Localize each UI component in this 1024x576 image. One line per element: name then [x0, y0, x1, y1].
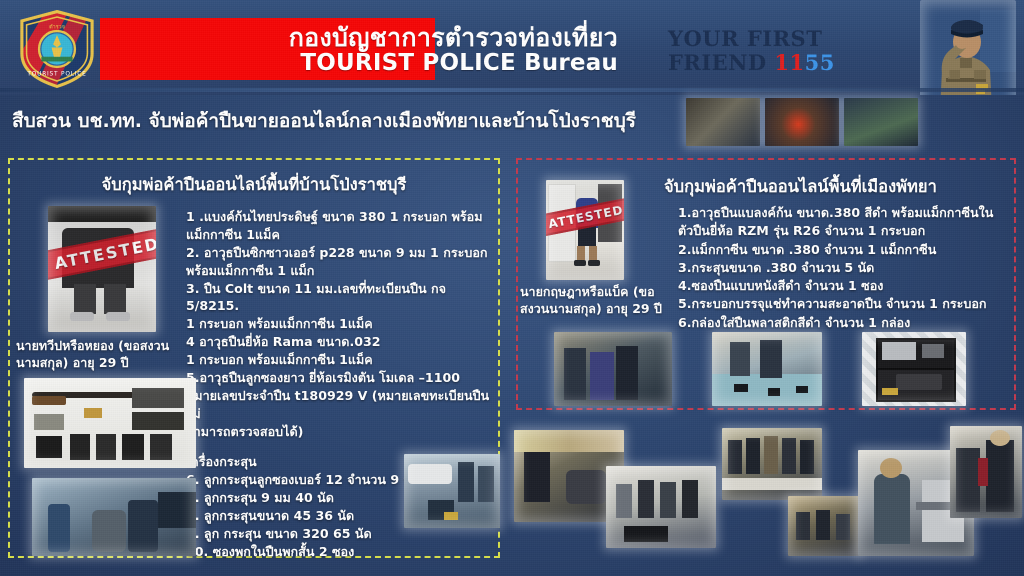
tourist-police-badge-icon: ตำรวจ TOURIST POLICE [8, 8, 108, 90]
right-photo-row [554, 332, 1006, 406]
badge-text-en: TOURIST POLICE [26, 72, 86, 78]
left-suspect-caption: นายทวีปหรือหยอง (ขอสงวนนามสกุล) อายุ 29 … [16, 338, 188, 372]
right-suspect-photo: ATTESTED [546, 180, 624, 280]
list-spacer [186, 440, 498, 451]
poster-root: ตำรวจ TOURIST POLICE กองบัญชาการตำรวจท่อ… [0, 0, 1024, 576]
right-item: ตัวปืนยี่ห้อ RZM รุ่น R26 จำนวน 1 กระบอก [678, 222, 1010, 240]
left-suspect-photo: ATTESTED [48, 206, 156, 332]
slogan-line-1: YOUR FIRST [668, 27, 838, 51]
left-item: หมายเลขประจำปืน t180929 V (หมายเลขทะเบีย… [186, 387, 498, 423]
left-item: สามารถตรวจสอบได้) [186, 423, 498, 441]
bottom-photo-collage [510, 424, 1024, 576]
left-item: พร้อมแม็กกาซีน 1 แม็ก [186, 262, 498, 280]
top-photo-strip [686, 98, 918, 146]
right-item: 5.กระบอกบรรจุแช่ทำความสะอาดปืน จำนวน 1 ก… [678, 295, 1010, 313]
officer-portrait-photo [920, 0, 1016, 95]
hotline-digits-blue: 55 [805, 50, 835, 75]
left-item: 4 อาวุธปืนยี่ห้อ Rama ขนาด.032 [186, 333, 498, 351]
badge-text-th: ตำรวจ [49, 24, 65, 31]
header-title-group: กองบัญชาการตำรวจท่องเที่ยว TOURIST POLIC… [100, 16, 640, 84]
evidence-table-photo [712, 332, 822, 406]
hotline-digits-red: 11 [774, 50, 804, 75]
arrest-site-photo [32, 478, 196, 556]
header-divider [0, 88, 1024, 92]
hotline-slogan: YOUR FIRST FRIEND 1155 [668, 27, 838, 74]
police-vehicle-photo [404, 454, 500, 528]
left-item: 1 กระบอก พร้อมแม็กกาซีน 1แม็ค [186, 351, 498, 369]
left-item: 5.อาวุธปืนลูกซองยาว ยี่ห้อเรมิงตัน โมเดล… [186, 369, 498, 387]
right-evidence-list: 1.อาวุธปืนแบลงค์ก้น ขนาด.380 สีดำ พร้อมแ… [678, 204, 1010, 332]
slogan-line-2: FRIEND 1155 [668, 51, 838, 75]
header-title-thai: กองบัญชาการตำรวจท่องเที่ยว [289, 24, 618, 51]
left-case-panel: จับกุมพ่อค้าปืนออนไลน์พื้นที่บ้านโป่งราช… [8, 158, 500, 558]
officers-group-photo [788, 496, 860, 556]
slogan-friend-text: FRIEND [668, 50, 767, 75]
left-item: 2. อาวุธปืนซิกซาวเออร์ p228 ขนาด 9 มม 1 … [186, 244, 498, 262]
header-bar: ตำรวจ TOURIST POLICE กองบัญชาการตำรวจท่อ… [0, 0, 1024, 95]
evidence-laydown-photo [606, 466, 716, 548]
seized-weapons-photo [24, 378, 196, 468]
left-item: 3. ปืน Colt ขนาด 11 มม.เลขที่ทะเบียนปืน … [186, 280, 498, 316]
top-photo-3 [844, 98, 918, 146]
left-item: 1 กระบอก พร้อมแม็กกาซีน 1แม็ค [186, 315, 498, 333]
page-subtitle: สืบสวน บช.ทท. จับพ่อค้าปืนขายออนไลน์กลาง… [12, 104, 692, 138]
left-item: แม็กกาซีน 1แม็ค [186, 226, 498, 244]
header-title-english: TOURIST POLICE Bureau [300, 51, 618, 77]
left-ammo-item: 10. ซองพกในปืนพกสั้น 2 ซอง [186, 543, 498, 561]
right-panel-heading: จับกุมพ่อค้าปืนออนไลน์พื้นที่เมืองพัทยา [664, 174, 1012, 200]
street-arrest-photo [554, 332, 672, 406]
press-conference-photo [722, 428, 822, 500]
top-photo-1 [686, 98, 760, 146]
left-item: 1 .แบงค์ก้นไทยประดิษฐ์ ขนาด 380 1 กระบอก… [186, 208, 498, 226]
suspect-interview-photo [950, 426, 1022, 518]
right-item: 3.กระสุนขนาด .380 จำนวน 5 นัด [678, 259, 1010, 277]
left-panel-heading: จับกุมพ่อค้าปืนออนไลน์พื้นที่บ้านโป่งราช… [10, 172, 498, 198]
right-case-panel: จับกุมพ่อค้าปืนออนไลน์พื้นที่เมืองพัทยา … [516, 158, 1016, 410]
right-item: 4.ซองปืนแบบหนังสีดำ จำนวน 1 ซอง [678, 277, 1010, 295]
right-item: 1.อาวุธปืนแบลงค์ก้น ขนาด.380 สีดำ พร้อมแ… [678, 204, 1010, 222]
pistol-case-photo [862, 332, 966, 406]
right-suspect-caption: นายกฤษฎาหรือแบ็ค (ขอสงวนนามสกุล) อายุ 29… [520, 284, 672, 318]
top-photo-2 [765, 98, 839, 146]
right-item: 6.กล่องใส่ปืนพลาสติกสีดำ จำนวน 1 กล่อง [678, 314, 1010, 332]
right-item: 2.แม็กกาซีน ขนาด .380 จำนวน 1 แม็กกาซีน [678, 241, 1010, 259]
